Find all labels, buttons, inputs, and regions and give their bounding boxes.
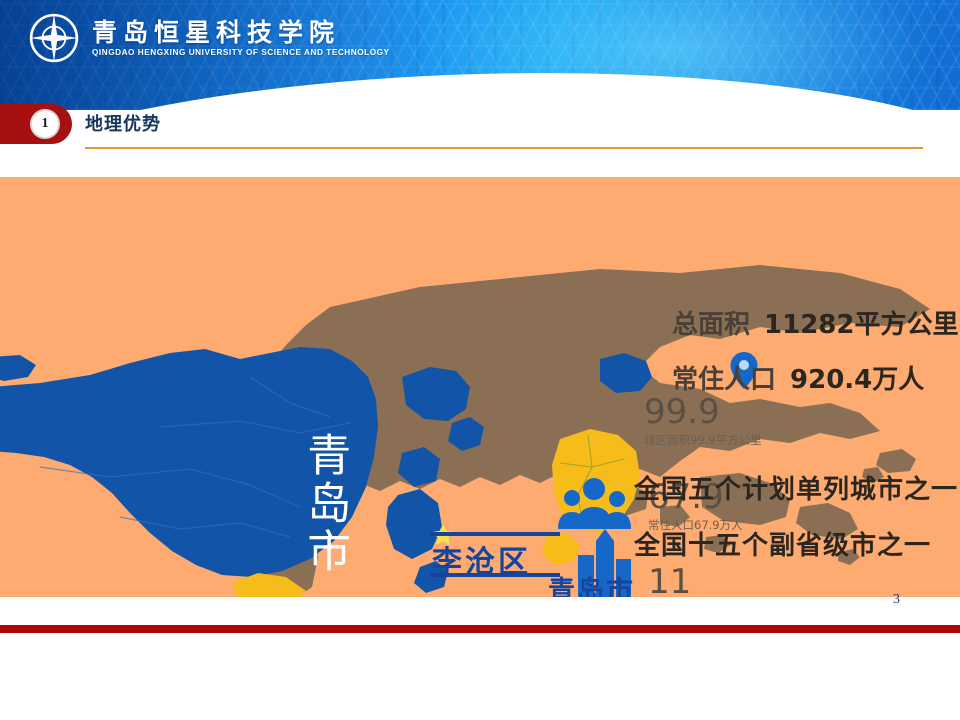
slide: 青岛恒星科技学院 QINGDAO HENGXING UNIVERSITY OF …: [0, 0, 960, 720]
district-stat-subdistricts: 11 辖11个街道办事处: [648, 565, 743, 597]
section-number: 1: [30, 109, 60, 139]
city-stat-value: 11282平方公里: [764, 304, 958, 341]
brand-name-en: QINGDAO HENGXING UNIVERSITY OF SCIENCE A…: [92, 48, 390, 57]
city-stat-population: 常住人口 920.4万人: [672, 359, 924, 396]
section-header: 1 地理优势: [0, 104, 960, 152]
honor-label-1: 全国五个计划单列城市之一: [634, 469, 958, 506]
brand-logo: 青岛恒星科技学院 QINGDAO HENGXING UNIVERSITY OF …: [28, 12, 390, 64]
compass-star-emblem-icon: [28, 12, 80, 64]
district-stat-value: 11: [648, 565, 743, 597]
city-stat-area: 总面积 11282平方公里: [672, 304, 958, 341]
district-stat-caption: 辖区面积99.9平方公里: [644, 435, 762, 447]
brand-name-cn: 青岛恒星科技学院: [92, 19, 390, 47]
district-label-rule-top: [430, 532, 560, 536]
title-underline: [85, 147, 923, 149]
city-label: 青岛市: [548, 569, 635, 597]
map-panel: 青岛市 李沧区 青岛市 99.9 辖区面积99.9平方公里 67.9 常住人口6…: [0, 177, 960, 597]
page-title: 地理优势: [85, 110, 161, 136]
district-label-rule-bottom: [430, 573, 560, 577]
city-stat-value: 920.4万人: [790, 359, 924, 396]
province-label: 青岛市: [300, 432, 349, 576]
footer-bar: [0, 625, 960, 633]
header-banner: 青岛恒星科技学院 QINGDAO HENGXING UNIVERSITY OF …: [0, 0, 960, 110]
city-stat-label: 常住人口: [672, 359, 776, 396]
district-stat-area: 99.9 辖区面积99.9平方公里: [644, 395, 762, 447]
honor-label-2: 全国十五个副省级市之一: [634, 525, 931, 562]
page-number: 3: [893, 592, 900, 608]
city-stat-label: 总面积: [672, 304, 750, 341]
district-stat-value: 99.9: [644, 395, 762, 429]
